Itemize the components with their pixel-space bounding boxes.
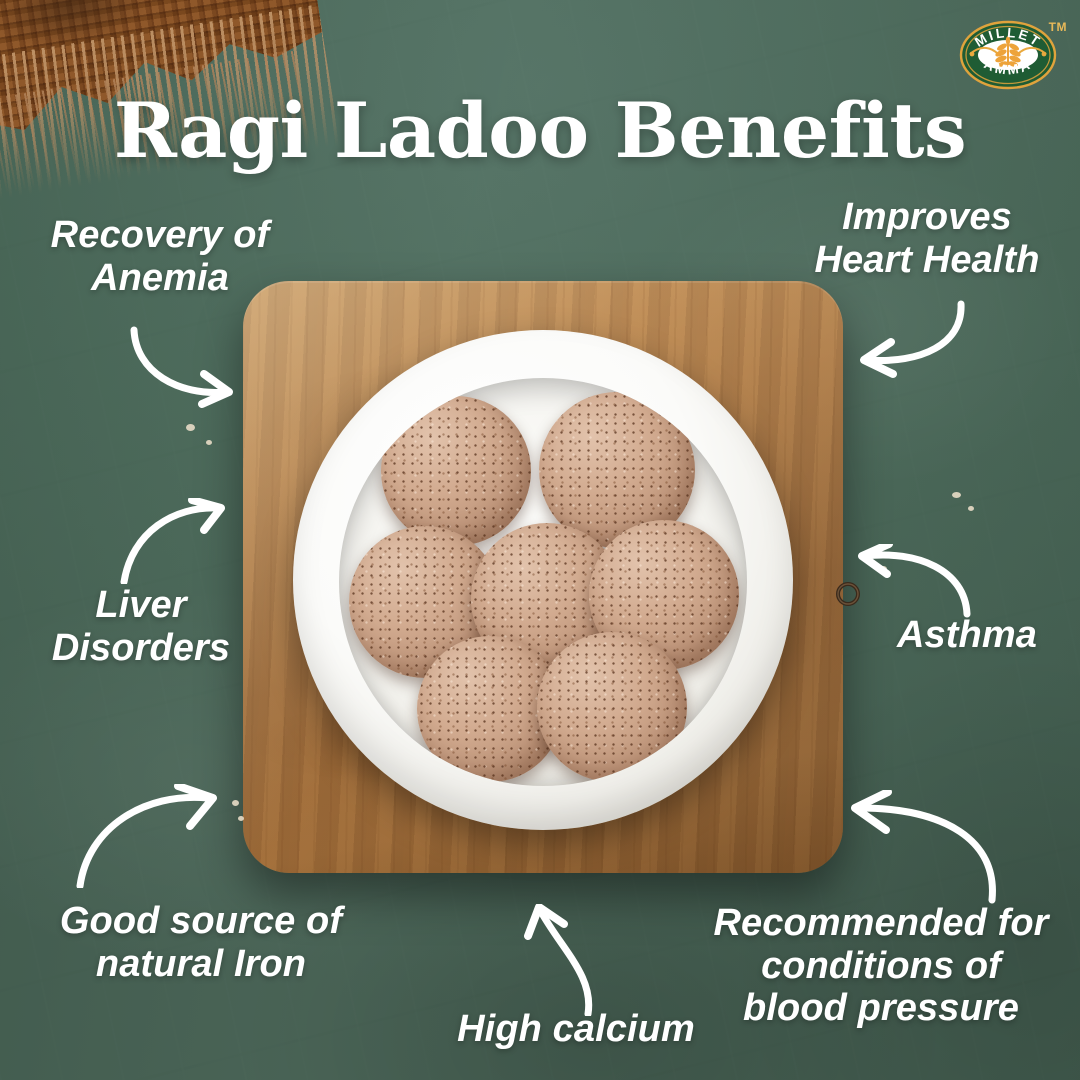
crumb [238, 816, 244, 821]
benefit-label-asthma: Asthma [860, 614, 1074, 657]
benefit-label-good-source-of-natural-iron: Good source of natural Iron [16, 900, 386, 985]
page-title: Ragi Ladoo Benefits [0, 86, 1080, 175]
benefit-label-recovery-of-anemia: Recovery of Anemia [20, 214, 300, 299]
benefit-label-liver-disorders: Liver Disorders [10, 584, 272, 669]
benefit-label-improves-heart-health: Improves Heart Health [780, 196, 1074, 281]
benefit-label-recommended-for-blood-pressure: Recommended for conditions of blood pres… [688, 902, 1074, 1030]
ragi-ladoo-benefits-poster: MILLET AMMA TM Ragi Ladoo Benefits [0, 0, 1080, 1080]
arrow-liver-disorders [118, 498, 228, 584]
bowl-interior [339, 378, 747, 786]
arrow-asthma [855, 544, 975, 620]
ladoo-ball [537, 632, 687, 782]
benefit-label-high-calcium: High calcium [434, 1008, 718, 1051]
arrow-good-source-of-natural-iron [74, 784, 220, 888]
ladoo-ball [381, 396, 531, 546]
crumb [952, 492, 961, 498]
trademark-symbol: TM [1049, 20, 1067, 34]
crumb [186, 424, 195, 431]
crumb [968, 506, 974, 511]
arrow-improves-heart-health [845, 298, 971, 394]
arrow-high-calcium [516, 904, 602, 1016]
crumb [206, 440, 212, 445]
crumb [232, 800, 239, 806]
arrow-recommended-for-blood-pressure [846, 790, 998, 904]
millet-amma-logo[interactable]: MILLET AMMA TM [958, 14, 1066, 92]
arrow-recovery-of-anemia [130, 320, 250, 420]
crumb [880, 566, 887, 572]
